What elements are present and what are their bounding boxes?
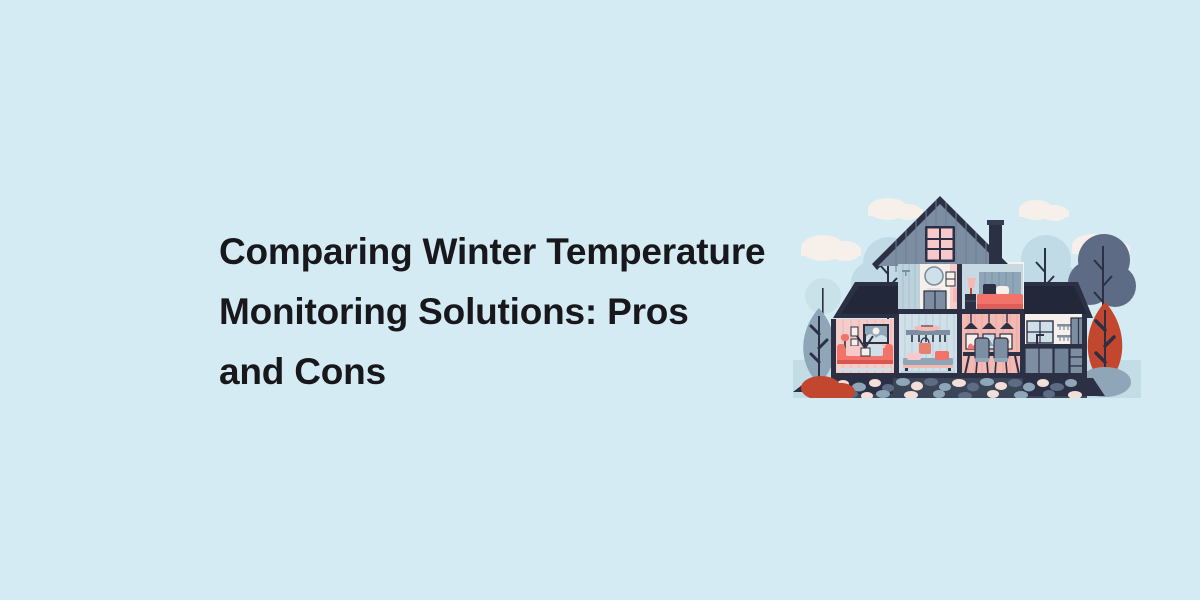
- page-title: Comparing Winter Temperature Monitoring …: [219, 222, 779, 402]
- house-cutaway-illustration: [793, 188, 1141, 414]
- title-block: Comparing Winter Temperature Monitoring …: [219, 222, 779, 402]
- room-bedroom: [961, 264, 1023, 311]
- room-kitchen: [1024, 314, 1086, 375]
- room-bathroom: [898, 264, 960, 311]
- attic-window: [925, 226, 955, 262]
- pendant-lights: [964, 314, 1014, 329]
- article-header-banner: Comparing Winter Temperature Monitoring …: [0, 0, 1200, 600]
- house-cutaway-svg: [793, 188, 1141, 414]
- chimney: [987, 220, 1004, 268]
- ground-floor-slab: [831, 373, 1087, 378]
- room-living-room: [835, 319, 897, 375]
- bottom-strip: [793, 398, 1141, 414]
- room-dining-room: [961, 314, 1023, 375]
- room-entryway: [898, 314, 960, 375]
